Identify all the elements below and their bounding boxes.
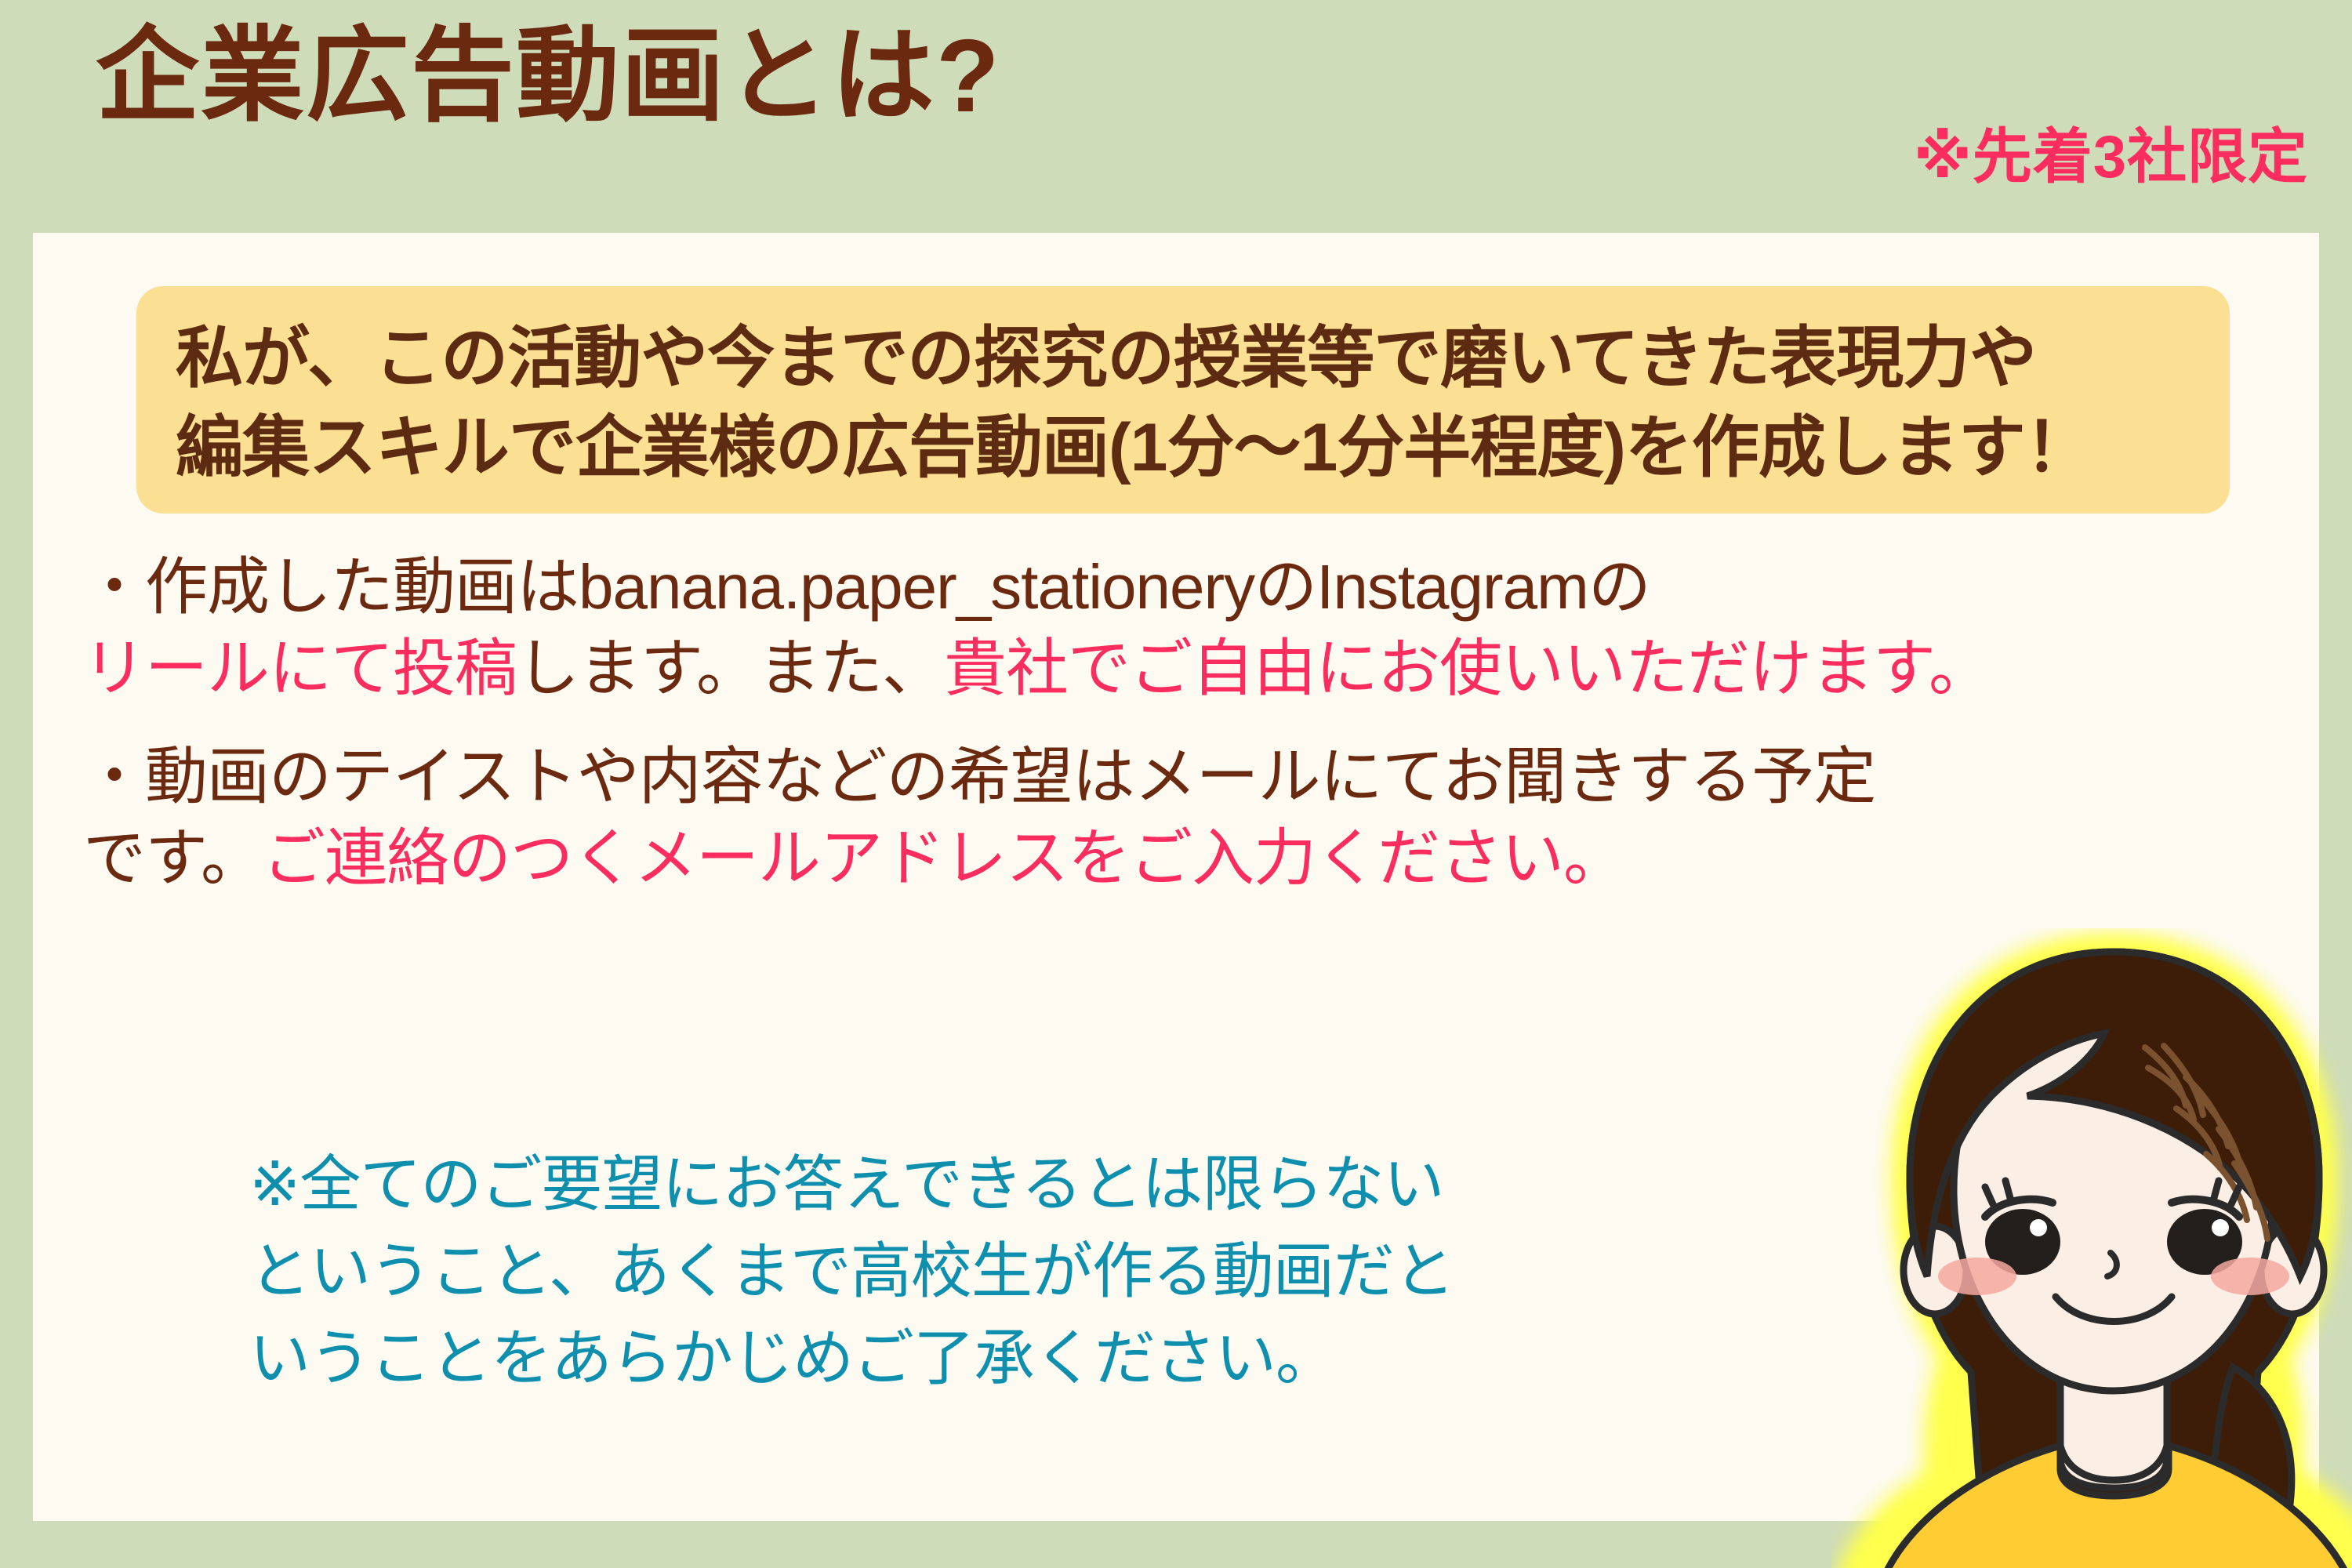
bullet-line: ・動画のテイストや内容などの希望はメールにてお聞きする予定 xyxy=(83,736,2294,818)
disclaimer-note: ※全てのご要望にお答えできるとは限らない ということ、あくまで高校生が作る動画だ… xyxy=(249,1141,1896,1401)
bullet-text-segment-emphasis: 貴社でご自由にお使いいただけます。 xyxy=(944,633,1991,703)
slide-header: 企業広告動画とは? ※先着3社限定 xyxy=(0,0,2352,233)
bullet-item-email: ・動画のテイストや内容などの希望はメールにてお聞きする予定 です。ご連絡のつくメ… xyxy=(83,736,2294,899)
limited-offer-badge: ※先着3社限定 xyxy=(1914,108,2308,194)
bullet-line: です。ご連絡のつくメールアドレスをご入力ください。 xyxy=(83,818,2294,899)
highlight-callout: 私が、この活動や今までの探究の授業等で磨いてきた表現力や 編集スキルで企業様の広… xyxy=(136,286,2230,514)
bullet-text-segment: します。また、 xyxy=(517,633,944,703)
disclaimer-line-3: いうことをあらかじめご了承ください。 xyxy=(249,1315,1896,1402)
bullet-line: リールにて投稿します。また、貴社でご自由にお使いいただけます。 xyxy=(83,628,2294,710)
disclaimer-line-2: ということ、あくまで高校生が作る動画だと xyxy=(249,1228,1896,1315)
highlight-line-1: 私が、この活動や今までの探究の授業等で磨いてきた表現力や xyxy=(176,314,2195,404)
slide-canvas: 企業広告動画とは? ※先着3社限定 私が、この活動や今までの探究の授業等で磨いて… xyxy=(0,0,2352,1568)
bullet-text-segment: ・動画のテイストや内容などの希望はメールにてお聞きする予定 xyxy=(83,742,1875,811)
bullet-list: ・作成した動画はbanana.paper_stationeryのInstagra… xyxy=(83,546,2294,926)
page-title: 企業広告動画とは? xyxy=(96,22,1001,131)
highlight-line-2: 編集スキルで企業様の広告動画(1分〜1分半程度)を作成します！ xyxy=(176,404,2195,493)
content-card: 私が、この活動や今までの探究の授業等で磨いてきた表現力や 編集スキルで企業様の広… xyxy=(33,233,2319,1521)
bullet-text-segment-emphasis: ご連絡のつくメールアドレスをご入力ください。 xyxy=(263,823,1625,893)
bullet-text-segment: です。 xyxy=(83,823,263,893)
disclaimer-line-1: ※全てのご要望にお答えできるとは限らない xyxy=(249,1141,1896,1228)
bullet-line: ・作成した動画はbanana.paper_stationeryのInstagra… xyxy=(83,546,2294,628)
bullet-item-instagram: ・作成した動画はbanana.paper_stationeryのInstagra… xyxy=(83,546,2294,710)
bullet-text-segment-emphasis: リールにて投稿 xyxy=(83,633,517,703)
bullet-text-segment: ・作成した動画はbanana.paper_stationeryのInstagra… xyxy=(83,552,1650,622)
